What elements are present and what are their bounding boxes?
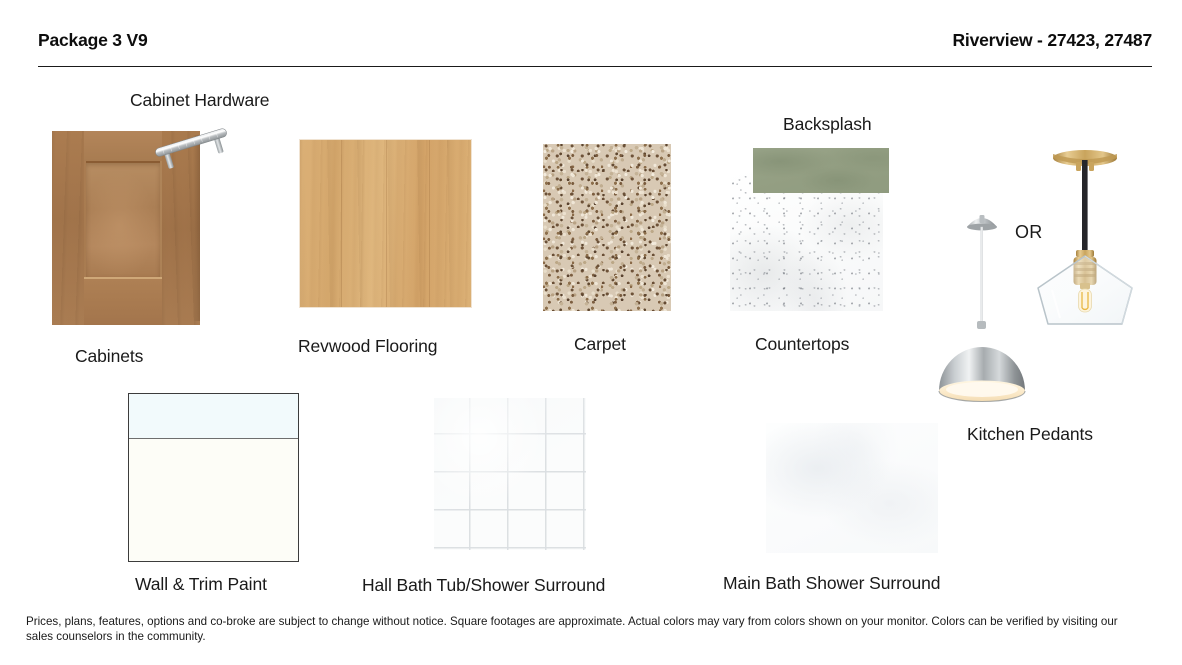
flooring-label: Revwood Flooring [298,336,437,357]
board-header: Package 3 V9 Riverview - 27423, 27487 [38,30,1152,74]
page-title: Package 3 V9 [38,30,148,51]
cabinets-label: Cabinets [75,346,143,367]
backsplash-swatch[interactable] [753,148,889,193]
tile-sheen [434,398,586,550]
cabinet-rail-bottom [84,277,162,325]
cabinets-swatch[interactable] [52,131,200,325]
cabinet-hardware-label: Cabinet Hardware [130,90,269,111]
carpet-label: Carpet [574,334,626,355]
paint-wall-band [129,440,298,561]
pendant-option-b-glass-geometric-icon[interactable] [1030,138,1140,333]
hall-bath-label: Hall Bath Tub/Shower Surround [362,575,605,596]
cabinet-edge-shadow [193,135,200,321]
paint-swatch[interactable] [128,393,299,562]
plank-seam [429,140,430,307]
main-bath-label: Main Bath Shower Surround [723,573,940,594]
design-package-board: Package 3 V9 Riverview - 27423, 27487 Ca… [0,0,1182,665]
countertops-label: Countertops [755,334,849,355]
carpet-texture [543,144,671,311]
backsplash-label: Backsplash [783,114,872,135]
flooring-swatch[interactable] [299,139,472,308]
cabinet-center-panel [86,161,160,277]
disclaimer-text: Prices, plans, features, options and co-… [26,614,1146,644]
cabinet-rail-top [84,131,162,161]
paint-label: Wall & Trim Paint [135,574,267,595]
community-title: Riverview - 27423, 27487 [952,30,1152,51]
carpet-swatch[interactable] [543,144,671,311]
main-bath-surround-swatch[interactable] [766,423,938,553]
hall-bath-surround-swatch[interactable] [434,398,586,550]
cabinet-stile-left [52,131,84,325]
header-divider [38,66,1152,67]
plank-seam [386,140,387,307]
paint-trim-band [129,394,298,439]
plank-seam [341,140,342,307]
pendants-label: Kitchen Pedants [967,424,1093,445]
